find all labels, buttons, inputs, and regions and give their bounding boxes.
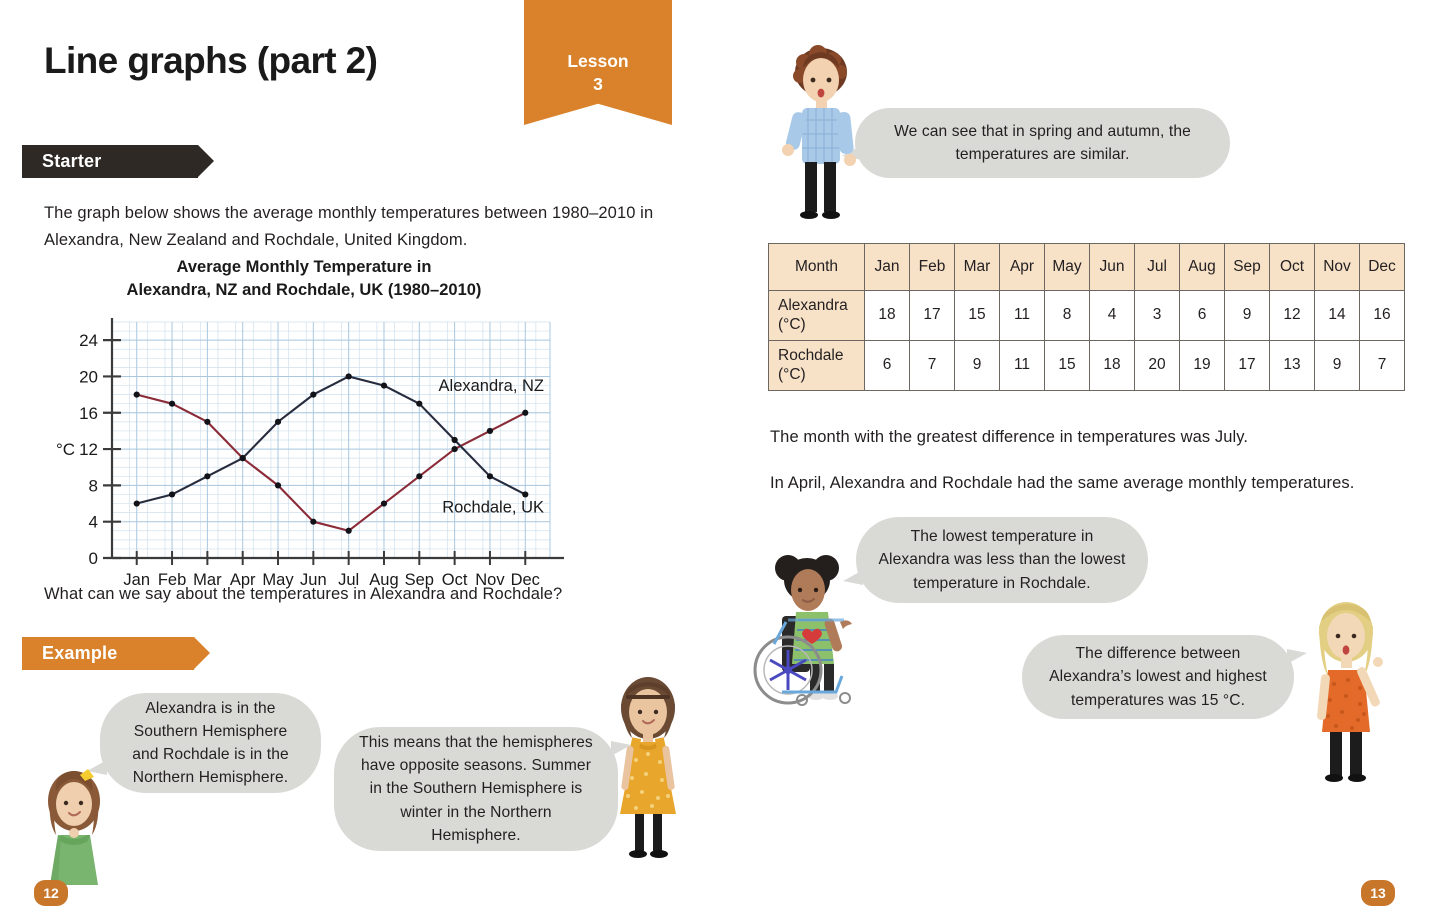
- speech-bubble-hemispheres: Alexandra is in the Southern Hemisphere …: [100, 693, 321, 793]
- temperature-table: MonthJanFebMarAprMayJunJulAugSepOctNovDe…: [768, 243, 1405, 391]
- character-girl-green-top: [28, 757, 120, 887]
- character-girl-wheelchair-svg: [752, 524, 870, 708]
- chart-y-tick-label: 12: [79, 440, 98, 459]
- lesson-ribbon: Lesson 3: [524, 0, 672, 125]
- line-chart: Average Monthly Temperature in Alexandra…: [34, 256, 574, 605]
- chart-data-point: [381, 382, 387, 388]
- table-header-jun: Jun: [1090, 244, 1135, 291]
- chart-data-point: [204, 473, 210, 479]
- starter-question-text: What can we say about the temperatures i…: [44, 581, 684, 608]
- speech-bubble-hemispheres-text: Alexandra is in the Southern Hemisphere …: [122, 697, 299, 789]
- speech-bubble-seasons: This means that the hemispheres have opp…: [334, 727, 618, 851]
- table-row: Alexandra(°C)1817151184369121416: [769, 291, 1405, 341]
- chart-title-line1: Average Monthly Temperature in: [34, 256, 574, 279]
- table-cell: 9: [1225, 291, 1270, 341]
- table-cell: 8: [1045, 291, 1090, 341]
- chart-data-point: [452, 436, 458, 442]
- speech-bubble-seasons-text: This means that the hemispheres have opp…: [356, 731, 596, 846]
- table-row: Rochdale(°C)6791115182019171397: [769, 340, 1405, 390]
- chart-data-point: [452, 446, 458, 452]
- table-cell: 15: [955, 291, 1000, 341]
- table-header-apr: Apr: [1000, 244, 1045, 291]
- chart-y-tick-label: 24: [79, 331, 98, 350]
- table-cell: 9: [1315, 340, 1360, 390]
- lesson-ribbon-number: 3: [524, 73, 672, 96]
- table-cell: 11: [1000, 291, 1045, 341]
- table-cell: 20: [1135, 340, 1180, 390]
- table-cell: 18: [865, 291, 910, 341]
- table-cell: 6: [1180, 291, 1225, 341]
- chart-y-tick-label: 0: [89, 549, 98, 568]
- chart-y-tick-label: 20: [79, 367, 98, 386]
- table-cell: 17: [910, 291, 955, 341]
- table-cell: 17: [1225, 340, 1270, 390]
- speech-bubble-spring-autumn-text: We can see that in spring and autumn, th…: [877, 120, 1208, 166]
- table-cell: 13: [1270, 340, 1315, 390]
- chart-data-point: [416, 473, 422, 479]
- table-cell: 19: [1180, 340, 1225, 390]
- chart-data-point: [522, 409, 528, 415]
- page-number-left: 12: [34, 880, 68, 906]
- chart-data-point: [204, 418, 210, 424]
- chart-label-rochdale: Rochdale, UK: [442, 498, 544, 516]
- table-cell: 7: [1360, 340, 1405, 390]
- statement-greatest-difference: The month with the greatest difference i…: [770, 424, 1420, 451]
- chart-plot-area: 04812162024 JanFebMarAprMayJunJulAugSepO…: [34, 310, 574, 605]
- table-cell: 12: [1270, 291, 1315, 341]
- chart-data-point: [275, 482, 281, 488]
- table-cell: 6: [865, 340, 910, 390]
- character-boy-blue-jumper: [776, 36, 864, 222]
- chart-data-point: [522, 491, 528, 497]
- chart-y-tick-labels: 04812162024: [79, 331, 98, 568]
- character-girl-orange-dress-svg: [602, 668, 694, 860]
- chart-y-axis-label: °C: [56, 440, 75, 459]
- chart-title-line2: Alexandra, NZ and Rochdale, UK (1980–201…: [34, 279, 574, 302]
- starter-intro-text: The graph below shows the average monthl…: [44, 200, 684, 253]
- table-header-sep: Sep: [1225, 244, 1270, 291]
- chart-data-point: [381, 500, 387, 506]
- chart-y-tick-label: 8: [89, 476, 98, 495]
- table-cell: 9: [955, 340, 1000, 390]
- table-body: Alexandra(°C)1817151184369121416Rochdale…: [769, 291, 1405, 391]
- table-header-aug: Aug: [1180, 244, 1225, 291]
- table-header-oct: Oct: [1270, 244, 1315, 291]
- table-cell: 18: [1090, 340, 1135, 390]
- chart-y-tick-label: 4: [89, 512, 98, 531]
- statement-same-temperature: In April, Alexandra and Rochdale had the…: [770, 470, 1430, 497]
- table-cell: 7: [910, 340, 955, 390]
- chart-data-point: [310, 518, 316, 524]
- chart-data-point: [134, 500, 140, 506]
- example-section-banner: Example: [22, 637, 194, 670]
- table-cell: 4: [1090, 291, 1135, 341]
- chart-y-tick-label: 16: [79, 403, 98, 422]
- chart-data-point: [487, 427, 493, 433]
- chart-minor-gridlines: [112, 322, 550, 558]
- table-header-jan: Jan: [865, 244, 910, 291]
- speech-bubble-difference: The difference between Alexandra’s lowes…: [1022, 635, 1294, 719]
- character-girl-wheelchair: [752, 524, 870, 708]
- chart-data-point: [487, 473, 493, 479]
- character-girl-green-top-svg: [28, 757, 120, 887]
- chart-data-point: [169, 400, 175, 406]
- table-header-dec: Dec: [1360, 244, 1405, 291]
- table-cell: 15: [1045, 340, 1090, 390]
- table-header-may: May: [1045, 244, 1090, 291]
- speech-bubble-lowest-temperature-text: The lowest temperature in Alexandra was …: [878, 525, 1126, 594]
- chart-data-point: [169, 491, 175, 497]
- table-row-label: Rochdale(°C): [769, 340, 865, 390]
- chart-data-point: [346, 527, 352, 533]
- table-cell: 14: [1315, 291, 1360, 341]
- speech-bubble-difference-text: The difference between Alexandra’s lowes…: [1044, 642, 1272, 711]
- table-cell: 11: [1000, 340, 1045, 390]
- table-header-row: MonthJanFebMarAprMayJunJulAugSepOctNovDe…: [769, 244, 1405, 291]
- lesson-ribbon-label: Lesson: [567, 51, 628, 71]
- chart-data-point: [275, 418, 281, 424]
- table-header-nov: Nov: [1315, 244, 1360, 291]
- character-girl-blonde-orange-top-svg: [1294, 592, 1398, 788]
- chart-data-point: [310, 391, 316, 397]
- table-row-label: Alexandra(°C): [769, 291, 865, 341]
- table-header-mar: Mar: [955, 244, 1000, 291]
- table-header: MonthJanFebMarAprMayJunJulAugSepOctNovDe…: [769, 244, 1405, 291]
- character-girl-orange-dress: [602, 668, 694, 860]
- chart-title: Average Monthly Temperature in Alexandra…: [34, 256, 574, 302]
- table-cell: 3: [1135, 291, 1180, 341]
- textbook-spread: Line graphs (part 2) Lesson 3 Starter Th…: [0, 0, 1445, 924]
- chart-data-point: [416, 400, 422, 406]
- character-girl-blonde-orange-top: [1294, 592, 1398, 788]
- speech-bubble-lowest-temperature: The lowest temperature in Alexandra was …: [856, 517, 1148, 603]
- table-header-feb: Feb: [910, 244, 955, 291]
- chart-data-point: [346, 373, 352, 379]
- page-number-right: 13: [1361, 880, 1395, 906]
- character-boy-blue-jumper-svg: [776, 36, 864, 222]
- table-header-month: Month: [769, 244, 865, 291]
- chart-data-point: [134, 391, 140, 397]
- table-header-jul: Jul: [1135, 244, 1180, 291]
- starter-section-banner: Starter: [22, 145, 198, 178]
- table-cell: 16: [1360, 291, 1405, 341]
- speech-bubble-spring-autumn: We can see that in spring and autumn, th…: [855, 108, 1230, 178]
- page-title: Line graphs (part 2): [44, 40, 377, 82]
- chart-data-point: [240, 455, 246, 461]
- chart-svg: 04812162024 JanFebMarAprMayJunJulAugSepO…: [34, 310, 574, 600]
- chart-y-axis-unit-label: °C: [56, 440, 75, 459]
- chart-label-alexandra: Alexandra, NZ: [439, 377, 544, 395]
